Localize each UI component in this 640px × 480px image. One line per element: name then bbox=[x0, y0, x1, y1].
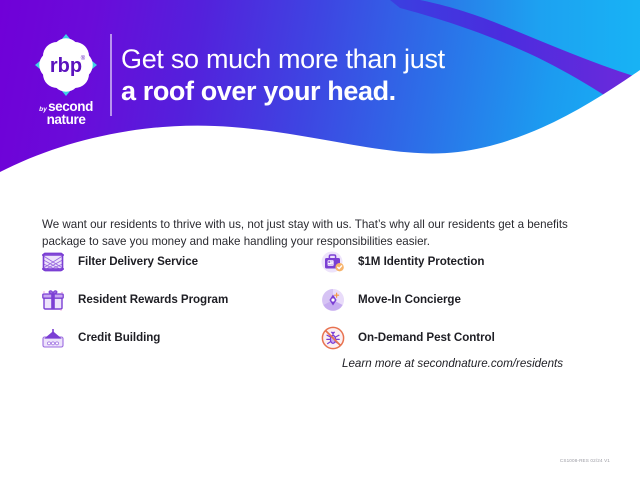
benefit-item-credit-building: Credit Building bbox=[40, 324, 320, 351]
logo-nature-text: nature bbox=[26, 113, 106, 127]
benefits-right-column: $1M Identity Protection Move-In Concierg… bbox=[320, 248, 600, 351]
benefit-label: Filter Delivery Service bbox=[78, 255, 198, 268]
benefit-label: $1M Identity Protection bbox=[358, 255, 484, 268]
benefit-item-resident-rewards: Resident Rewards Program bbox=[40, 286, 320, 313]
fine-print-code: CS1008-RES 02/24 V1 bbox=[560, 458, 610, 463]
logo-divider bbox=[110, 34, 112, 116]
learn-more-text: Learn more at secondnature.com/residents bbox=[342, 357, 563, 370]
no-pest-icon bbox=[320, 325, 346, 351]
credit-card-chart-icon bbox=[40, 325, 66, 351]
benefit-item-identity-protection: $1M Identity Protection bbox=[320, 248, 600, 275]
rbp-logo-text: rbp bbox=[50, 55, 82, 77]
rbp-logo-wordmark: bysecond nature bbox=[26, 99, 106, 127]
benefit-item-pest-control: On-Demand Pest Control bbox=[320, 324, 600, 351]
benefits-left-column: Filter Delivery Service Residen bbox=[40, 248, 320, 351]
benefit-label: Credit Building bbox=[78, 331, 160, 344]
rbp-logo-mark: rbp ® bbox=[35, 34, 97, 96]
benefit-label: Resident Rewards Program bbox=[78, 293, 228, 306]
benefit-label: Move-In Concierge bbox=[358, 293, 461, 306]
benefit-label: On-Demand Pest Control bbox=[358, 331, 495, 344]
rbp-starburst-icon: rbp ® bbox=[35, 34, 97, 96]
marketing-flyer-page: rbp ® bysecond nature Get so much more t… bbox=[0, 0, 640, 480]
air-filter-icon bbox=[40, 249, 66, 275]
hero-banner: rbp ® bysecond nature Get so much more t… bbox=[0, 0, 640, 186]
rbp-logo: rbp ® bysecond nature bbox=[26, 34, 106, 118]
benefit-item-move-in-concierge: Move-In Concierge bbox=[320, 286, 600, 313]
headline-line-2: a roof over your head. bbox=[121, 76, 621, 108]
intro-paragraph: We want our residents to thrive with us,… bbox=[42, 216, 590, 250]
benefits-list: Filter Delivery Service Residen bbox=[40, 248, 600, 351]
headline-line-1: Get so much more than just bbox=[121, 44, 621, 76]
compass-icon bbox=[320, 287, 346, 313]
briefcase-lock-icon bbox=[320, 249, 346, 275]
svg-text:®: ® bbox=[81, 55, 86, 62]
benefit-item-filter-delivery: Filter Delivery Service bbox=[40, 248, 320, 275]
hero-headline: Get so much more than just a roof over y… bbox=[121, 44, 621, 108]
logo-by-text: by bbox=[39, 106, 47, 113]
gift-box-icon bbox=[40, 287, 66, 313]
